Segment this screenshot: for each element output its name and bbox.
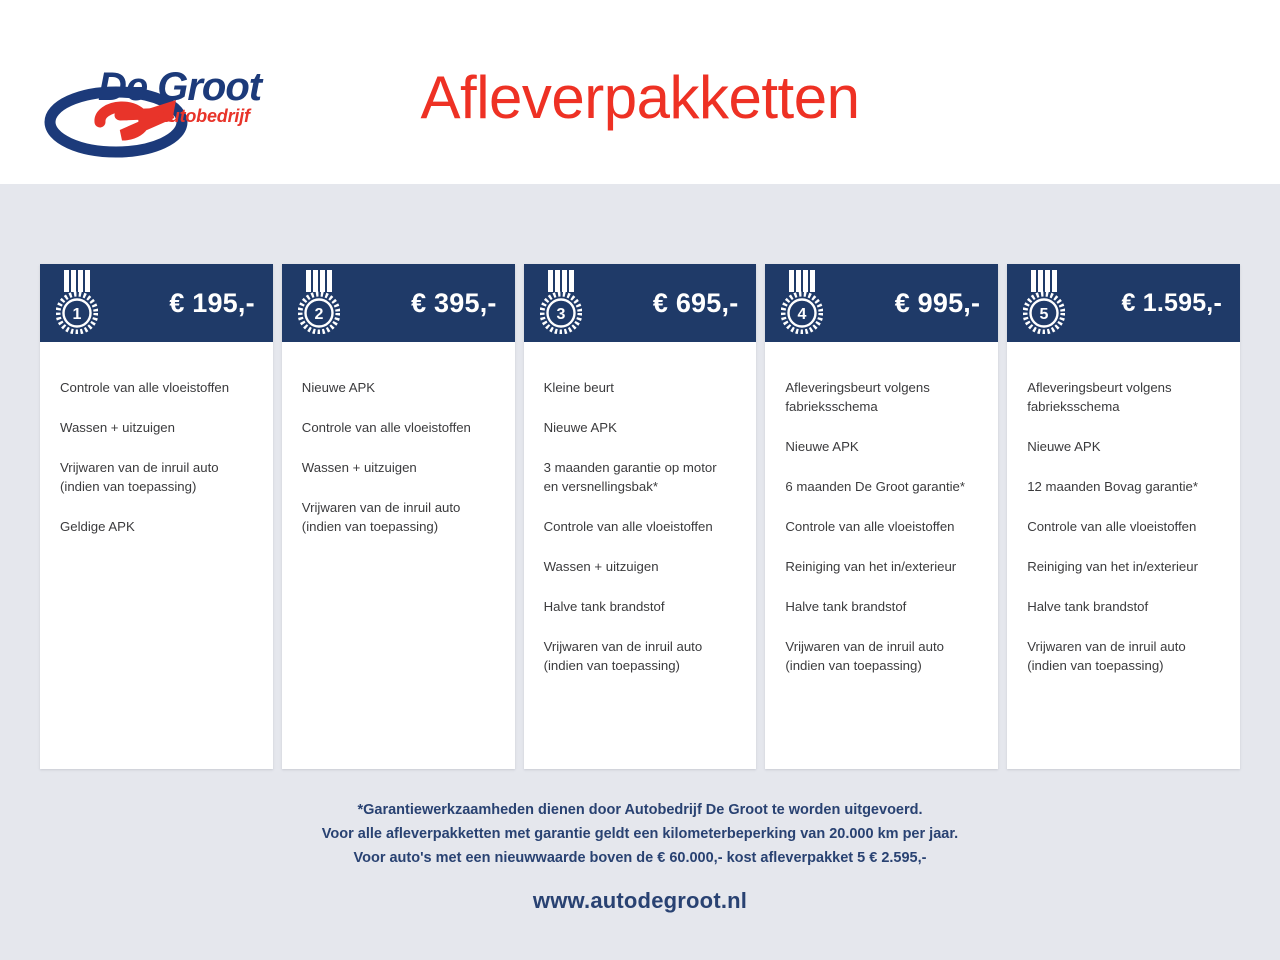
medal-icon: 3 (540, 270, 582, 334)
package-card-header: 5 € 1.595,- (1007, 264, 1240, 342)
feature-item: Wassen + uitzuigen (60, 418, 253, 437)
website-link[interactable]: www.autodegroot.nl (0, 888, 1280, 914)
footnote-line-3: Voor auto's met een nieuwwaarde boven de… (0, 846, 1280, 870)
footnote-line-2: Voor alle afleverpakketten met garantie … (0, 822, 1280, 846)
feature-item: 3 maanden garantie op motor en versnelli… (544, 458, 737, 496)
footnote-line-1: *Garantiewerkzaamheden dienen door Autob… (0, 798, 1280, 822)
package-price: € 395,- (340, 288, 501, 319)
medal-icon: 4 (781, 270, 823, 334)
medal-number: 3 (556, 306, 565, 323)
package-card[interactable]: 2 € 395,- Nieuwe APK Controle van alle v… (282, 264, 515, 769)
package-feature-list: Nieuwe APK Controle van alle vloeistoffe… (282, 342, 515, 769)
feature-item: Halve tank brandstof (544, 597, 737, 616)
package-price: € 1.595,- (1065, 289, 1226, 318)
footnotes: *Garantiewerkzaamheden dienen door Autob… (0, 798, 1280, 870)
package-card[interactable]: 4 € 995,- Afleveringsbeurt volgens fabri… (765, 264, 998, 769)
feature-item: Nieuwe APK (302, 378, 495, 397)
package-card[interactable]: 5 € 1.595,- Afleveringsbeurt volgens fab… (1007, 264, 1240, 769)
feature-item: Afleveringsbeurt volgens fabrieksschema (785, 378, 978, 416)
feature-item: Controle van alle vloeistoffen (60, 378, 253, 397)
package-feature-list: Controle van alle vloeistoffen Wassen + … (40, 342, 273, 769)
feature-item: Reiniging van het in/exterieur (785, 557, 978, 576)
package-card-list: 1 € 195,- Controle van alle vloeistoffen… (40, 264, 1240, 769)
medal-number: 1 (73, 306, 82, 323)
package-card-header: 2 € 395,- (282, 264, 515, 342)
package-feature-list: Afleveringsbeurt volgens fabrieksschema … (1007, 342, 1240, 769)
package-card[interactable]: 3 € 695,- Kleine beurt Nieuwe APK 3 maan… (524, 264, 757, 769)
feature-item: Nieuwe APK (544, 418, 737, 437)
feature-item: Halve tank brandstof (785, 597, 978, 616)
medal-number: 5 (1040, 306, 1049, 323)
medal-number: 4 (798, 306, 807, 323)
medal-icon: 5 (1023, 270, 1065, 334)
package-price: € 695,- (582, 288, 743, 319)
medal-icon: 1 (56, 270, 98, 334)
feature-item: Nieuwe APK (785, 437, 978, 456)
feature-item: Controle van alle vloeistoffen (1027, 517, 1220, 536)
feature-item: Controle van alle vloeistoffen (302, 418, 495, 437)
feature-item: Vrijwaren van de inruil auto (indien van… (1027, 637, 1220, 675)
medal-icon: 2 (298, 270, 340, 334)
feature-item: Vrijwaren van de inruil auto (indien van… (302, 498, 495, 536)
feature-item: 12 maanden Bovag garantie* (1027, 477, 1220, 496)
feature-item: Reiniging van het in/exterieur (1027, 557, 1220, 576)
feature-item: Geldige APK (60, 517, 253, 536)
page-title: Afleverpakketten (0, 60, 1280, 136)
feature-item: 6 maanden De Groot garantie* (785, 477, 978, 496)
feature-item: Vrijwaren van de inruil auto (indien van… (60, 458, 253, 496)
page-header: De Groot Autobedrijf Afleverpakketten (0, 0, 1280, 184)
package-card-header: 4 € 995,- (765, 264, 998, 342)
feature-item: Afleveringsbeurt volgens fabrieksschema (1027, 378, 1220, 416)
feature-item: Controle van alle vloeistoffen (544, 517, 737, 536)
medal-number: 2 (314, 306, 323, 323)
feature-item: Wassen + uitzuigen (544, 557, 737, 576)
feature-item: Nieuwe APK (1027, 437, 1220, 456)
feature-item: Wassen + uitzuigen (302, 458, 495, 477)
package-feature-list: Afleveringsbeurt volgens fabrieksschema … (765, 342, 998, 769)
feature-item: Controle van alle vloeistoffen (785, 517, 978, 536)
package-feature-list: Kleine beurt Nieuwe APK 3 maanden garant… (524, 342, 757, 769)
package-price: € 195,- (98, 288, 259, 319)
package-card-header: 3 € 695,- (524, 264, 757, 342)
package-price: € 995,- (823, 288, 984, 319)
feature-item: Kleine beurt (544, 378, 737, 397)
feature-item: Vrijwaren van de inruil auto (indien van… (785, 637, 978, 675)
feature-item: Vrijwaren van de inruil auto (indien van… (544, 637, 737, 675)
package-card-header: 1 € 195,- (40, 264, 273, 342)
package-card[interactable]: 1 € 195,- Controle van alle vloeistoffen… (40, 264, 273, 769)
feature-item: Halve tank brandstof (1027, 597, 1220, 616)
